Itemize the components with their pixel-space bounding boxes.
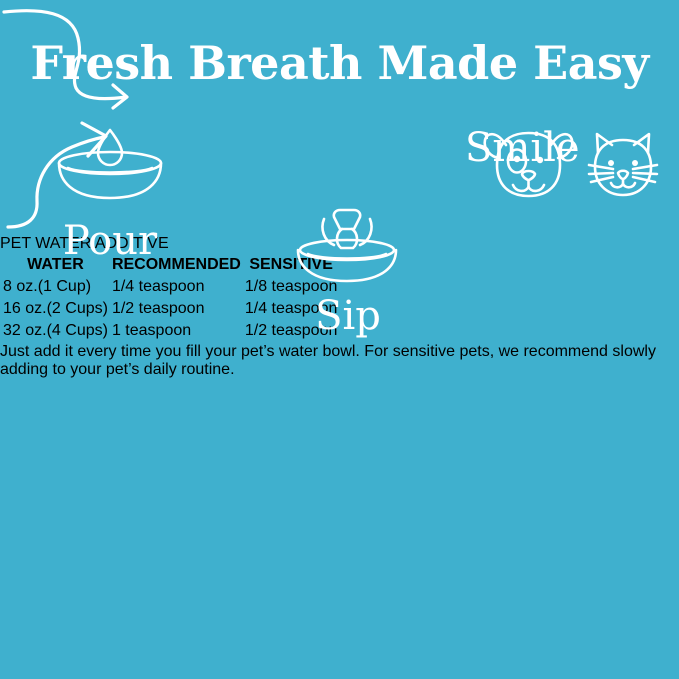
water-cups-value: (1 Cup) xyxy=(38,278,91,295)
step-sip: Sip xyxy=(268,205,468,345)
infographic-canvas: Fresh Breath Made Easy Pour xyxy=(0,0,679,679)
water-amount-value: 32 oz. xyxy=(3,322,47,339)
cell-water-amount: 16 oz.(2 Cups) xyxy=(2,299,109,319)
cell-recommended-dose: 1/2 teaspoon xyxy=(111,299,242,319)
step-smile-label: Smile xyxy=(465,125,580,171)
page-title: Fresh Breath Made Easy xyxy=(0,36,679,90)
step-pour: Pour xyxy=(25,126,225,261)
cell-recommended-dose: 1/4 teaspoon xyxy=(111,277,242,297)
cell-recommended-dose: 1 teaspoon xyxy=(111,321,242,341)
cell-water-amount: 32 oz.(4 Cups) xyxy=(2,321,109,341)
cat-face-icon xyxy=(589,134,657,195)
step-sip-label: Sip xyxy=(268,293,428,339)
step-smile: Smile xyxy=(470,125,670,270)
usage-note: Just add it every time you fill your pet… xyxy=(0,343,679,379)
water-amount-value: 16 oz. xyxy=(3,300,47,317)
water-bowl-with-droplet-icon xyxy=(43,126,178,211)
water-amount-value: 8 oz. xyxy=(3,278,38,295)
step-pour-label: Pour xyxy=(25,218,195,264)
pet-drinking-from-bowl-icon xyxy=(286,205,411,285)
water-cups-value: (2 Cups) xyxy=(47,300,108,317)
water-cups-value: (4 Cups) xyxy=(47,322,108,339)
cell-water-amount: 8 oz.(1 Cup) xyxy=(2,277,109,297)
